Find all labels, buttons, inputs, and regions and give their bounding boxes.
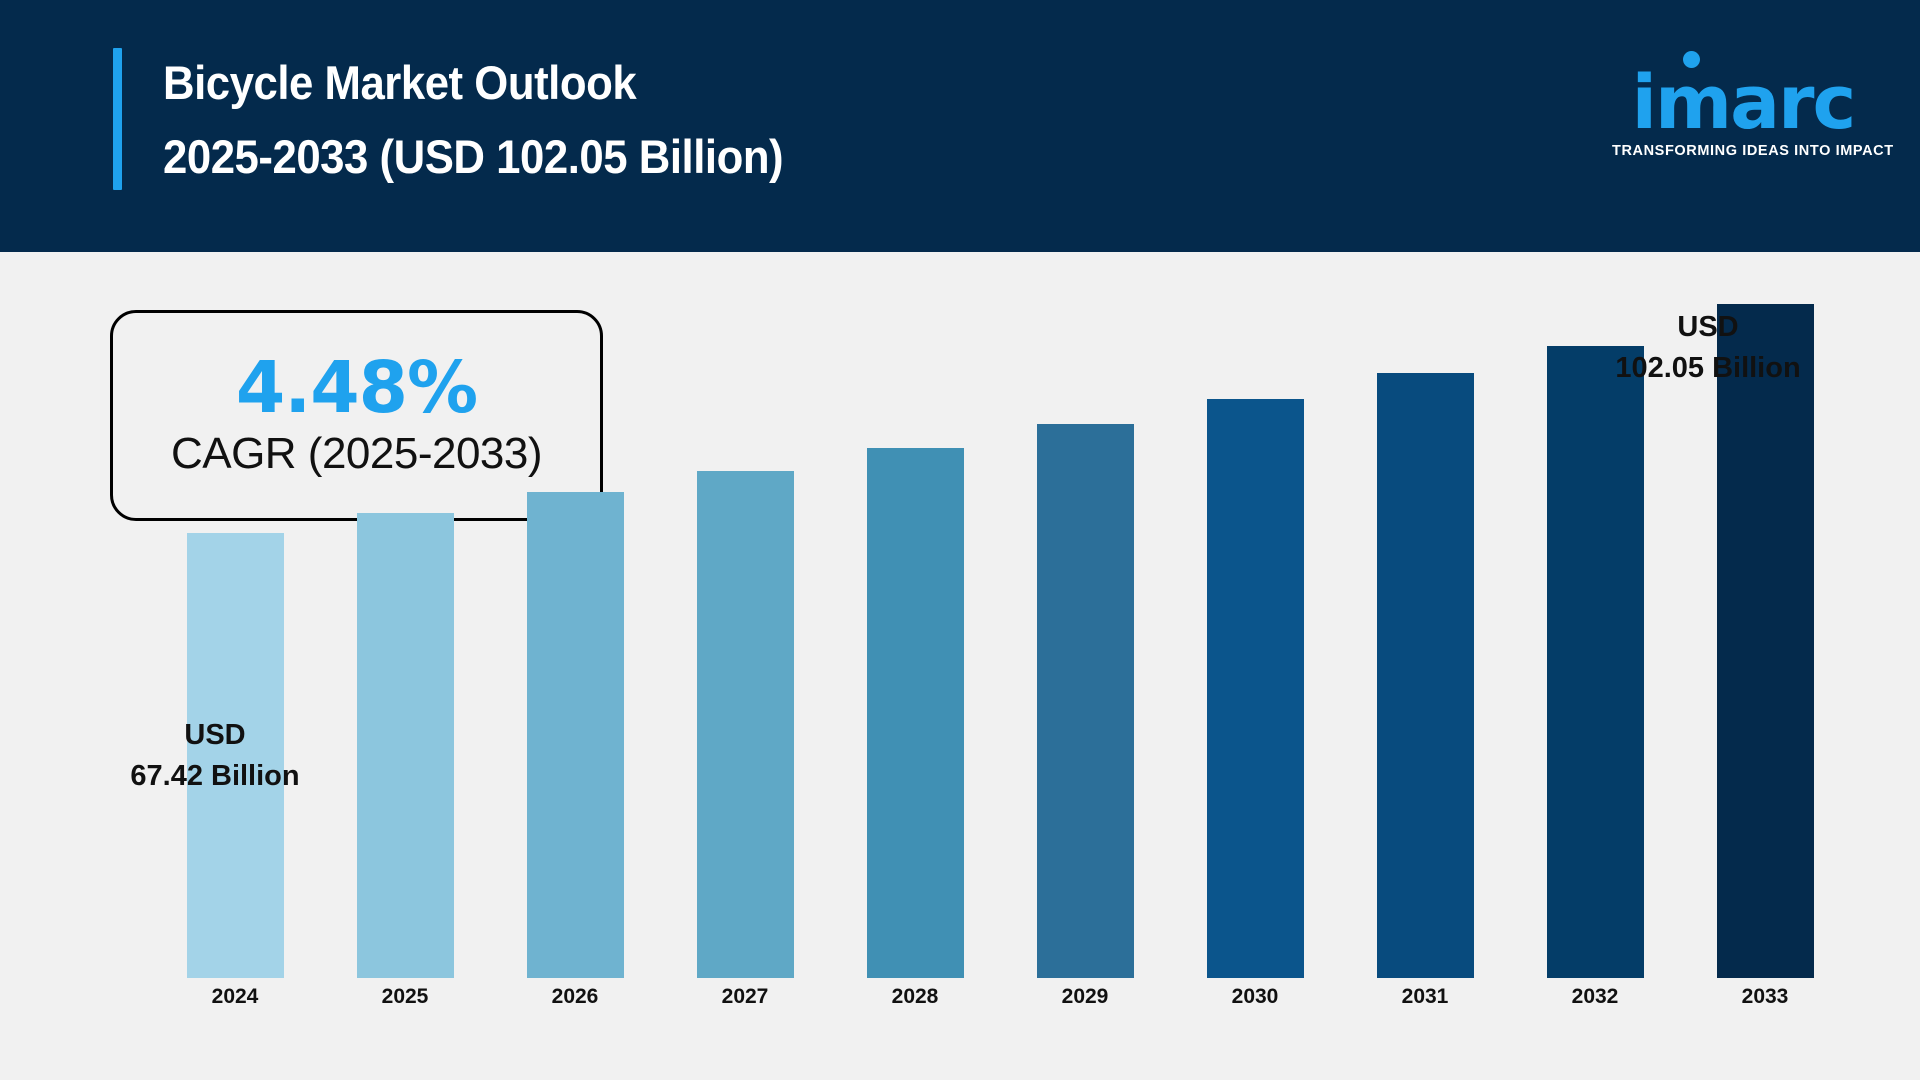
page-title-line-2: 2025-2033 (USD 102.05 Billion) — [163, 120, 783, 194]
callout-start-line-1: USD — [95, 715, 335, 756]
bar-2028[interactable] — [867, 252, 964, 978]
callout-end-line-1: USD — [1578, 307, 1838, 348]
bar-fill-2025 — [357, 513, 454, 978]
page-title: Bicycle Market Outlook 2025-2033 (USD 10… — [163, 46, 830, 194]
page-title-line-1: Bicycle Market Outlook — [163, 46, 783, 120]
page-header: Bicycle Market Outlook 2025-2033 (USD 10… — [0, 0, 1920, 252]
bar-2029[interactable] — [1037, 252, 1134, 978]
callout-start-value: USD 67.42 Billion — [95, 715, 335, 797]
bar-fill-2027 — [697, 471, 794, 978]
x-axis-label-2026: 2026 — [490, 982, 660, 1012]
bar-fill-2032 — [1547, 346, 1644, 978]
callout-end-value: USD 102.05 Billion — [1578, 307, 1838, 389]
x-axis-label-2030: 2030 — [1170, 982, 1340, 1012]
callout-end-line-2: 102.05 Billion — [1578, 348, 1838, 389]
bar-fill-2026 — [527, 492, 624, 978]
bar-2030[interactable] — [1207, 252, 1304, 978]
bar-fill-2033 — [1717, 304, 1814, 978]
x-axis-label-2031: 2031 — [1340, 982, 1510, 1012]
bar-fill-2031 — [1377, 373, 1474, 978]
imarc-logo[interactable]: imarc TRANSFORMING IDEAS INTO IMPACT — [1612, 48, 1874, 164]
bar-2027[interactable] — [697, 252, 794, 978]
bar-fill-2029 — [1037, 424, 1134, 978]
x-axis-label-2028: 2028 — [830, 982, 1000, 1012]
x-axis-label-2033: 2033 — [1680, 982, 1850, 1012]
x-axis-label-2032: 2032 — [1510, 982, 1680, 1012]
logo-tagline: TRANSFORMING IDEAS INTO IMPACT — [1612, 143, 1874, 159]
logo-wordmark: imarc — [1612, 66, 1874, 140]
x-axis-label-2029: 2029 — [1000, 982, 1170, 1012]
chart-x-axis: 2024202520262027202820292030203120322033 — [150, 982, 1850, 1022]
x-axis-label-2024: 2024 — [150, 982, 320, 1012]
callout-start-line-2: 67.42 Billion — [95, 756, 335, 797]
bar-2026[interactable] — [527, 252, 624, 978]
x-axis-label-2027: 2027 — [660, 982, 830, 1012]
bar-fill-2030 — [1207, 399, 1304, 978]
bar-fill-2028 — [867, 448, 964, 978]
bar-2024[interactable] — [187, 252, 284, 978]
title-accent-bar — [113, 48, 122, 190]
bar-2025[interactable] — [357, 252, 454, 978]
x-axis-label-2025: 2025 — [320, 982, 490, 1012]
bar-2031[interactable] — [1377, 252, 1474, 978]
